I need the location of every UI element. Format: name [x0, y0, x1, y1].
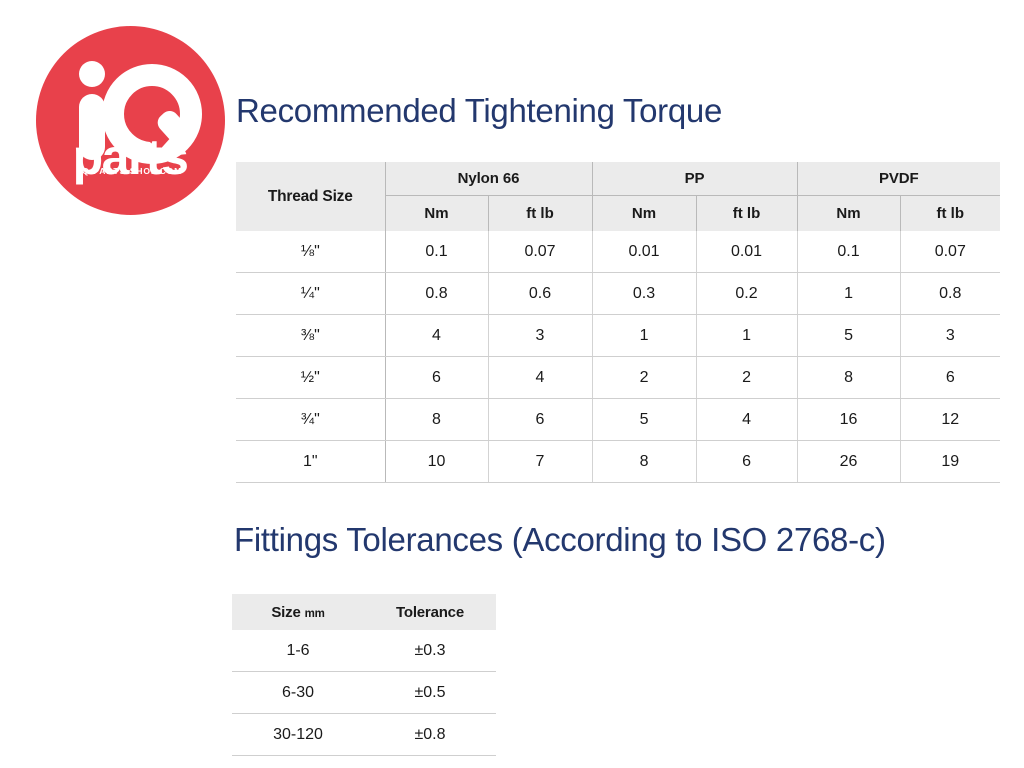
cell-torque-value: 5 — [592, 399, 696, 441]
cell-torque-value: 6 — [696, 441, 797, 483]
cell-torque-value: 10 — [385, 441, 488, 483]
brand-logo: parts IQ-PARTS-SHOP.COM — [36, 26, 225, 215]
cell-tolerance: ±0.8 — [364, 714, 496, 756]
header-unit-nylon66-nm: Nm — [385, 196, 488, 232]
cell-torque-value: 0.01 — [592, 231, 696, 273]
table-row: ½"642286 — [236, 357, 1000, 399]
header-unit-pp-nm: Nm — [592, 196, 696, 232]
cell-tolerance: ±0.5 — [364, 672, 496, 714]
header-group-pvdf: PVDF — [797, 162, 1000, 196]
cell-torque-value: 7 — [488, 441, 592, 483]
logo-iq-parts-mark: parts — [36, 26, 225, 215]
table-row: ¼"0.80.60.30.210.8 — [236, 273, 1000, 315]
cell-torque-value: 6 — [900, 357, 1000, 399]
cell-torque-value: 0.8 — [385, 273, 488, 315]
tolerance-section-title: Fittings Tolerances (According to ISO 27… — [234, 521, 886, 559]
logo-tagline: IQ-PARTS-SHOP.COM — [36, 166, 225, 176]
tolerance-table-body: 1-6±0.36-30±0.530-120±0.8 — [232, 630, 496, 756]
cell-torque-value: 1 — [696, 315, 797, 357]
cell-torque-value: 0.07 — [900, 231, 1000, 273]
cell-thread-size: ½" — [236, 357, 385, 399]
tolerance-table-container: Size mm Tolerance 1-6±0.36-30±0.530-120±… — [232, 594, 496, 756]
cell-torque-value: 16 — [797, 399, 900, 441]
table-row: ⅛"0.10.070.010.010.10.07 — [236, 231, 1000, 273]
torque-header-row-groups: Thread Size Nylon 66 PP PVDF — [236, 162, 1000, 196]
cell-torque-value: 0.6 — [488, 273, 592, 315]
cell-thread-size: ¾" — [236, 399, 385, 441]
header-tolerance: Tolerance — [364, 594, 496, 630]
cell-torque-value: 8 — [797, 357, 900, 399]
header-size: Size mm — [232, 594, 364, 630]
table-row: 6-30±0.5 — [232, 672, 496, 714]
cell-size: 1-6 — [232, 630, 364, 672]
torque-section-title: Recommended Tightening Torque — [236, 92, 722, 130]
cell-torque-value: 26 — [797, 441, 900, 483]
cell-thread-size: ¼" — [236, 273, 385, 315]
header-unit-pvdf-ftlb: ft lb — [900, 196, 1000, 232]
cell-torque-value: 6 — [385, 357, 488, 399]
cell-torque-value: 0.01 — [696, 231, 797, 273]
header-unit-pvdf-nm: Nm — [797, 196, 900, 232]
cell-torque-value: 0.1 — [797, 231, 900, 273]
cell-torque-value: 4 — [696, 399, 797, 441]
header-size-label: Size — [271, 604, 300, 621]
torque-table-container: Thread Size Nylon 66 PP PVDF Nm ft lb Nm… — [236, 162, 1000, 483]
cell-torque-value: 8 — [385, 399, 488, 441]
header-unit-nylon66-ftlb: ft lb — [488, 196, 592, 232]
cell-torque-value: 0.2 — [696, 273, 797, 315]
table-row: 30-120±0.8 — [232, 714, 496, 756]
cell-torque-value: 3 — [900, 315, 1000, 357]
cell-torque-value: 0.1 — [385, 231, 488, 273]
tolerance-header-row: Size mm Tolerance — [232, 594, 496, 630]
table-row: ⅜"431153 — [236, 315, 1000, 357]
torque-table: Thread Size Nylon 66 PP PVDF Nm ft lb Nm… — [236, 162, 1000, 483]
cell-torque-value: 0.07 — [488, 231, 592, 273]
table-row: 1"107862619 — [236, 441, 1000, 483]
cell-torque-value: 6 — [488, 399, 592, 441]
cell-torque-value: 5 — [797, 315, 900, 357]
cell-torque-value: 8 — [592, 441, 696, 483]
cell-torque-value: 12 — [900, 399, 1000, 441]
cell-torque-value: 1 — [592, 315, 696, 357]
cell-torque-value: 4 — [385, 315, 488, 357]
cell-torque-value: 3 — [488, 315, 592, 357]
header-size-unit: mm — [305, 608, 325, 620]
cell-torque-value: 2 — [696, 357, 797, 399]
header-group-pp: PP — [592, 162, 797, 196]
svg-text:parts: parts — [73, 129, 188, 185]
cell-torque-value: 2 — [592, 357, 696, 399]
cell-thread-size: ⅛" — [236, 231, 385, 273]
cell-torque-value: 1 — [797, 273, 900, 315]
cell-thread-size: ⅜" — [236, 315, 385, 357]
table-row: 1-6±0.3 — [232, 630, 496, 672]
cell-torque-value: 4 — [488, 357, 592, 399]
cell-torque-value: 0.8 — [900, 273, 1000, 315]
cell-size: 6-30 — [232, 672, 364, 714]
tolerance-table: Size mm Tolerance 1-6±0.36-30±0.530-120±… — [232, 594, 496, 756]
cell-size: 30-120 — [232, 714, 364, 756]
header-unit-pp-ftlb: ft lb — [696, 196, 797, 232]
table-row: ¾"86541612 — [236, 399, 1000, 441]
cell-torque-value: 0.3 — [592, 273, 696, 315]
header-group-nylon66: Nylon 66 — [385, 162, 592, 196]
cell-tolerance: ±0.3 — [364, 630, 496, 672]
torque-table-body: ⅛"0.10.070.010.010.10.07¼"0.80.60.30.210… — [236, 231, 1000, 483]
cell-thread-size: 1" — [236, 441, 385, 483]
cell-torque-value: 19 — [900, 441, 1000, 483]
header-thread-size: Thread Size — [236, 162, 385, 231]
